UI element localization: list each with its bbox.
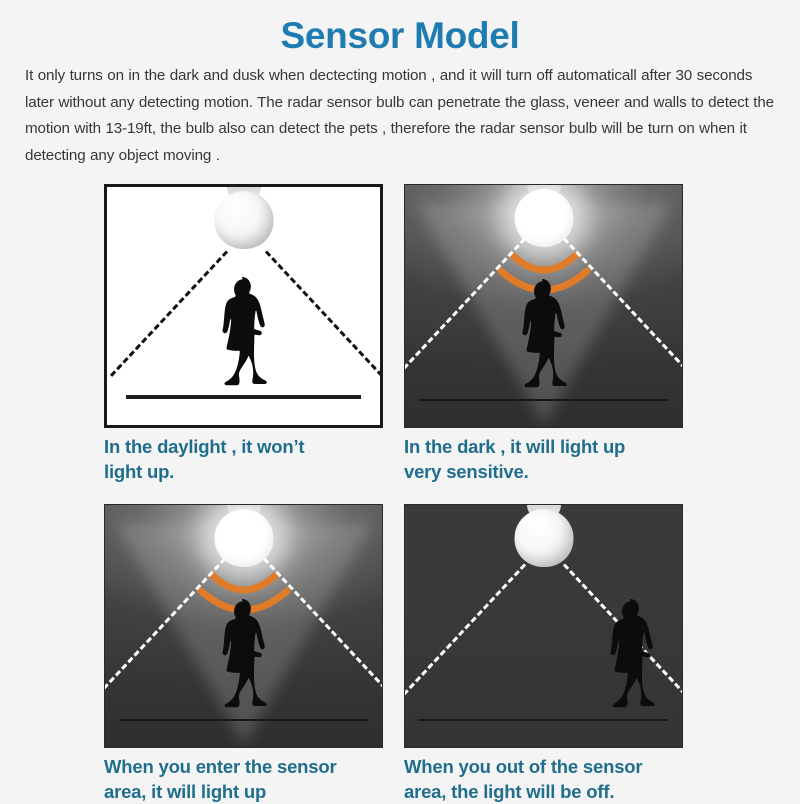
illustration-dark: [404, 184, 683, 428]
person-silhouette: [212, 599, 276, 719]
panel-caption-enter-sensor-area: When you enter the sensor area, it will …: [104, 748, 383, 804]
person-silhouette: [600, 599, 664, 719]
panel-caption-outside-sensor-area: When you out of the sensor area, the lig…: [404, 748, 683, 804]
person-silhouette: [512, 279, 576, 399]
panel-caption-dark: In the dark , it will light up very sens…: [404, 428, 683, 484]
ground-line: [126, 395, 361, 399]
page-title: Sensor Model: [0, 0, 800, 58]
panel-cell-daylight: In the daylight , it won’t light up.: [104, 184, 383, 484]
panel-cell-dark: In the dark , it will light up very sens…: [404, 184, 683, 484]
ground-line: [119, 719, 368, 721]
bulb-globe: [514, 509, 573, 567]
detection-ray-right: [265, 250, 383, 376]
illustration-daylight: [104, 184, 383, 428]
panel-cell-enter-sensor-area: When you enter the sensor area, it will …: [104, 504, 383, 804]
illustration-outside-sensor-area: [404, 504, 683, 748]
illustration-enter-sensor-area: [104, 504, 383, 748]
description-paragraph: It only turns on in the dark and dusk wh…: [0, 58, 800, 169]
detection-ray-left: [110, 250, 228, 376]
panel-row-bottom: When you enter the sensor area, it will …: [104, 504, 684, 804]
bulb-globe: [214, 191, 273, 249]
panel-cell-outside-sensor-area: When you out of the sensor area, the lig…: [404, 504, 683, 804]
ground-line: [419, 719, 668, 721]
panel-row-top: In the daylight , it won’t light up.: [104, 184, 684, 484]
person-silhouette: [212, 277, 276, 397]
panel-grid: In the daylight , it won’t light up.: [104, 184, 684, 804]
bulb-icon: [212, 184, 276, 251]
panel-caption-daylight: In the daylight , it won’t light up.: [104, 428, 383, 484]
bulb-icon: [512, 504, 576, 569]
ground-line: [419, 399, 668, 401]
